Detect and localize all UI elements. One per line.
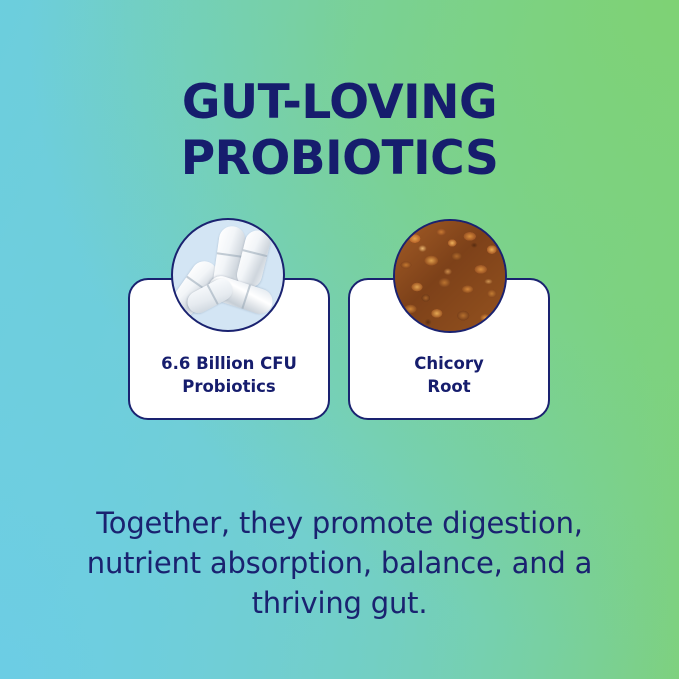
body-copy-line-3: thriving gut. [0,583,679,623]
probiotics-infographic: GUT-LOVING PROBIOTICS 6.6 Billion CFU Pr… [0,0,679,679]
body-copy-line-1: Together, they promote digestion, [0,503,679,543]
probiotic-capsules-image [171,218,285,332]
ingredient-label-line-2: Probiotics [130,375,328,398]
ingredient-label-line-1: 6.6 Billion CFU [161,354,297,373]
ingredient-label-line-2: Root [350,375,548,398]
ingredient-cards: 6.6 Billion CFU Probiotics Chicory Root [0,278,679,422]
ingredient-label-line-1: Chicory [414,354,484,373]
chicory-root-image [393,219,507,333]
body-copy: Together, they promote digestion, nutrie… [0,503,679,623]
body-copy-line-2: nutrient absorption, balance, and a [0,543,679,583]
page-title: GUT-LOVING PROBIOTICS [0,75,679,187]
ingredient-card-chicory-root-label: Chicory Root [350,352,548,398]
page-title-line-2: PROBIOTICS [0,131,679,187]
ingredient-card-probiotics-label: 6.6 Billion CFU Probiotics [130,352,328,398]
chicory-granules-texture [395,221,505,331]
page-title-line-1: GUT-LOVING [0,75,679,131]
